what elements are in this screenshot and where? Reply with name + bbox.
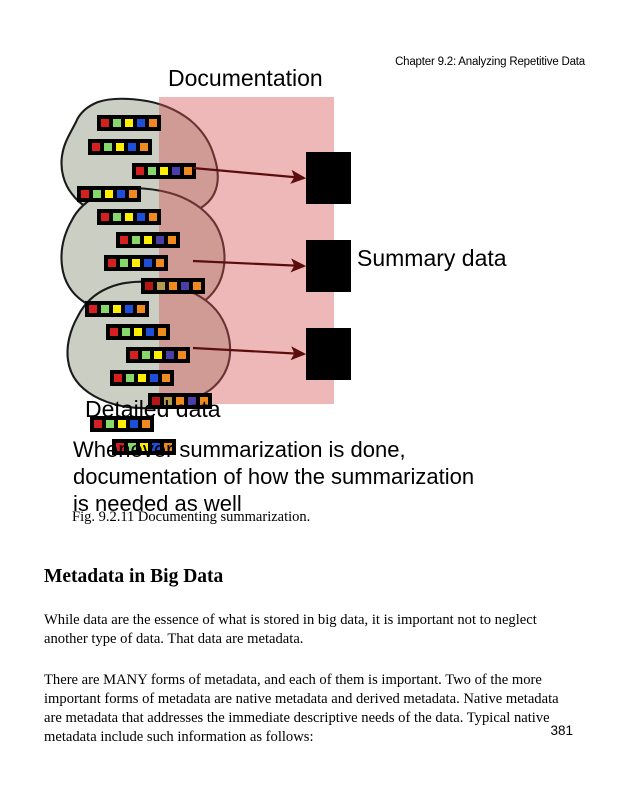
body-paragraph-2: There are MANY forms of metadata, and ea… (44, 671, 572, 747)
record-cell-blue (136, 118, 146, 128)
record-cell-yellow (133, 327, 143, 337)
record-cell-orange (167, 235, 177, 245)
record-cell-orange (168, 281, 178, 291)
record-cell-blue (127, 142, 137, 152)
record-cell-purple (171, 166, 181, 176)
summary-data-box (306, 240, 351, 292)
record-bar (116, 232, 180, 248)
record-bar (97, 115, 161, 131)
statement-line-2: documentation of how the summarization (73, 464, 474, 489)
figure-statement: Whenever summarization is done, document… (73, 436, 474, 517)
record-cell-purple (165, 350, 175, 360)
record-bar (104, 255, 168, 271)
record-cell-green (119, 258, 129, 268)
record-cell-blue (136, 212, 146, 222)
record-cell-blue (149, 373, 159, 383)
record-cell-red (80, 189, 90, 199)
record-cell-orange (136, 304, 146, 314)
record-cell-blue (124, 304, 134, 314)
record-cell-orange (183, 166, 193, 176)
figure-caption: Fig. 9.2.11 Documenting summarization. (72, 509, 310, 526)
record-cell-red (109, 327, 119, 337)
record-cell-red (91, 142, 101, 152)
record-bar (141, 278, 205, 294)
record-cell-red (135, 166, 145, 176)
record-cell-red (119, 235, 129, 245)
record-cell-yellow (137, 373, 147, 383)
record-cell-green (121, 327, 131, 337)
record-cell-red (107, 258, 117, 268)
record-bar (110, 370, 174, 386)
record-cell-red (100, 212, 110, 222)
record-cell-red (129, 350, 139, 360)
record-cell-blue (145, 327, 155, 337)
page-number: 381 (550, 723, 573, 738)
record-cell-darkred (144, 281, 154, 291)
record-bar (88, 139, 152, 155)
record-cell-yellow (143, 235, 153, 245)
record-cell-yellow (104, 189, 114, 199)
record-cell-green (100, 304, 110, 314)
record-cell-orange (155, 258, 165, 268)
record-cell-yellow (124, 212, 134, 222)
record-cell-blue (116, 189, 126, 199)
section-heading-metadata-in-big-data: Metadata in Big Data (44, 566, 223, 588)
record-bar (126, 347, 190, 363)
record-bar (132, 163, 196, 179)
record-cell-orange (148, 118, 158, 128)
record-cell-green (131, 235, 141, 245)
record-cell-blue (143, 258, 153, 268)
summary-data-label: Summary data (357, 245, 507, 272)
record-cell-yellow (159, 166, 169, 176)
record-cell-yellow (124, 118, 134, 128)
record-cell-red (100, 118, 110, 128)
record-cell-purple (180, 281, 190, 291)
record-cell-red (113, 373, 123, 383)
record-cell-yellow (131, 258, 141, 268)
record-cell-yellow (112, 304, 122, 314)
record-cell-tan (156, 281, 166, 291)
record-bar (97, 209, 161, 225)
record-cell-green (92, 189, 102, 199)
record-bar (77, 186, 141, 202)
record-cell-green (147, 166, 157, 176)
record-cell-green (141, 350, 151, 360)
record-bar (85, 301, 149, 317)
figure-documenting-summarization: Documentation Summary data Detailed data… (0, 60, 617, 525)
record-cell-green (112, 118, 122, 128)
detailed-data-label: Detailed data (85, 396, 221, 423)
record-cell-green (125, 373, 135, 383)
record-cell-orange (128, 189, 138, 199)
record-cell-green (112, 212, 122, 222)
statement-line-1: Whenever summarization is done, (73, 437, 406, 462)
summary-data-box (306, 328, 351, 380)
record-cell-orange (161, 373, 171, 383)
record-cell-purple (155, 235, 165, 245)
record-cell-red (88, 304, 98, 314)
record-cell-orange (177, 350, 187, 360)
summary-data-box (306, 152, 351, 204)
record-cell-orange (139, 142, 149, 152)
record-cell-orange (148, 212, 158, 222)
record-cell-yellow (115, 142, 125, 152)
record-cell-orange (157, 327, 167, 337)
record-cell-green (103, 142, 113, 152)
record-cell-orange (192, 281, 202, 291)
record-cell-yellow (153, 350, 163, 360)
body-paragraph-1: While data are the essence of what is st… (44, 611, 572, 649)
record-bar (106, 324, 170, 340)
